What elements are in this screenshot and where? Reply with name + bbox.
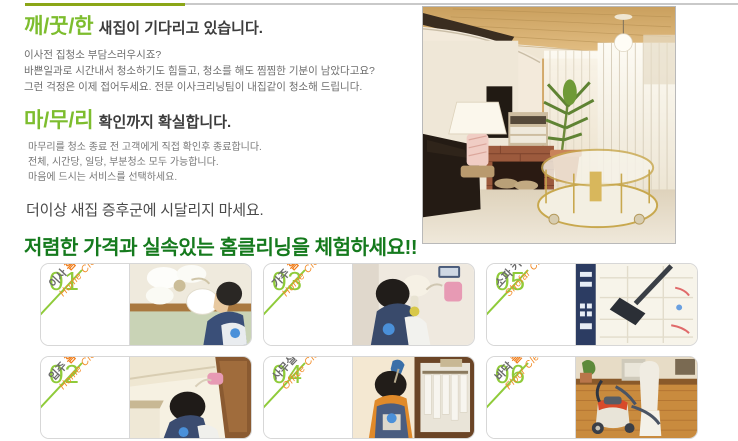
card-label-panel: 02 입주 홈클리닝 Home Cleaning xyxy=(41,357,129,438)
service-card[interactable]: 01 이사 홈클리닝 Home Cleaning xyxy=(40,263,252,346)
card-label-panel: 04 사무실 클리닝 Office Cleaning xyxy=(264,357,352,438)
ceiling-corner-wiping-illustration xyxy=(130,357,251,438)
intro-line-2: 바쁜일과로 시간내서 청소하기도 힘들고, 청소를 해도 찜찜한 기분이 남았다… xyxy=(24,63,424,79)
card-label-panel: 06 바닥 클리닝 Floor Cleaning xyxy=(487,357,575,438)
intro-heading-accent: 깨/꿋/한 xyxy=(24,15,94,38)
wall-wiping-illustration xyxy=(353,264,474,345)
intro-heading-rest: 새집이 기다리고 있습니다. xyxy=(99,20,263,37)
closet-cleaning-illustration xyxy=(353,357,474,438)
tagline: 저렴한 가격과 실속있는 홈클리닝을 체험하세요!! xyxy=(24,231,424,260)
intro-line-3: 그런 걱정은 이제 접어두세요. 전문 이사크리닝팀이 내집같이 청소해 드립니… xyxy=(24,79,424,95)
ceiling-light-cleaning-illustration xyxy=(130,264,251,345)
mattress-vacuum-illustration xyxy=(576,264,697,345)
card-photo xyxy=(575,264,697,345)
finish-heading-accent: 마/무/리 xyxy=(24,109,94,132)
card-label-text: 바닥 클리닝 Floor Cleaning xyxy=(493,357,575,416)
finish-heading: 마/무/리확인까지 확실합니다. xyxy=(24,108,424,132)
service-card[interactable]: 04 사무실 클리닝 Office Cleaning xyxy=(263,356,475,439)
finish-heading-rest: 확인까지 확실합니다. xyxy=(99,114,232,131)
card-label-text: 사무실 클리닝 Office Cleaning xyxy=(270,357,352,416)
service-card[interactable]: 06 바닥 클리닝 Floor Cleaning xyxy=(486,356,698,439)
living-room-interior-illustration xyxy=(423,7,675,243)
intro-body: 이사전 집청소 부담스러우시죠? 바쁜일과로 시간내서 청소하기도 힘들고, 청… xyxy=(24,47,424,95)
card-label-text: 입주 홈클리닝 Home Cleaning xyxy=(47,357,129,416)
service-card-grid: 01 이사 홈클리닝 Home Cleaning xyxy=(40,263,698,439)
floor-polisher-illustration xyxy=(576,357,697,438)
card-photo xyxy=(129,264,251,345)
subline: 더이상 새집 증후군에 시달리지 마세요. xyxy=(24,199,424,220)
intro-line-1: 이사전 집청소 부담스러우시죠? xyxy=(24,47,424,63)
finish-line-3: 마음에 드시는 서비스를 선택하세요. xyxy=(28,170,424,185)
finish-line-1: 마무리를 청소 종료 전 고객에게 직접 확인후 종료합니다. xyxy=(28,140,424,155)
card-photo xyxy=(129,357,251,438)
intro-heading: 깨/꿋/한새집이 기다리고 있습니다. xyxy=(24,14,424,38)
card-photo xyxy=(352,264,474,345)
service-card[interactable]: 05 소파 카펫 클리닝 Shofar Cleaning xyxy=(486,263,698,346)
card-label-text: 가주 홈클리닝 Home Cleaning xyxy=(270,264,352,323)
service-card[interactable]: 02 입주 홈클리닝 Home Cleaning xyxy=(40,356,252,439)
card-photo xyxy=(575,357,697,438)
card-label-panel: 05 소파 카펫 클리닝 Shofar Cleaning xyxy=(487,264,575,345)
card-label-panel: 01 이사 홈클리닝 Home Cleaning xyxy=(41,264,129,345)
service-card[interactable]: 03 가주 홈클리닝 Home Cleaning xyxy=(263,263,475,346)
card-photo xyxy=(352,357,474,438)
card-label-panel: 03 가주 홈클리닝 Home Cleaning xyxy=(264,264,352,345)
text-column: 깨/꿋/한새집이 기다리고 있습니다. 이사전 집청소 부담스러우시죠? 바쁜일… xyxy=(24,14,424,260)
top-rule-accent xyxy=(25,3,185,6)
card-label-text: 소파 카펫 클리닝 Shofar Cleaning xyxy=(493,264,575,323)
card-label-text: 이사 홈클리닝 Home Cleaning xyxy=(47,264,129,323)
finish-line-2: 전체, 시간당, 일당, 부분청소 모두 가능합니다. xyxy=(28,155,424,170)
hero-image xyxy=(422,6,676,244)
finish-body: 마무리를 청소 종료 전 고객에게 직접 확인후 종료합니다. 전체, 시간당,… xyxy=(24,140,424,185)
